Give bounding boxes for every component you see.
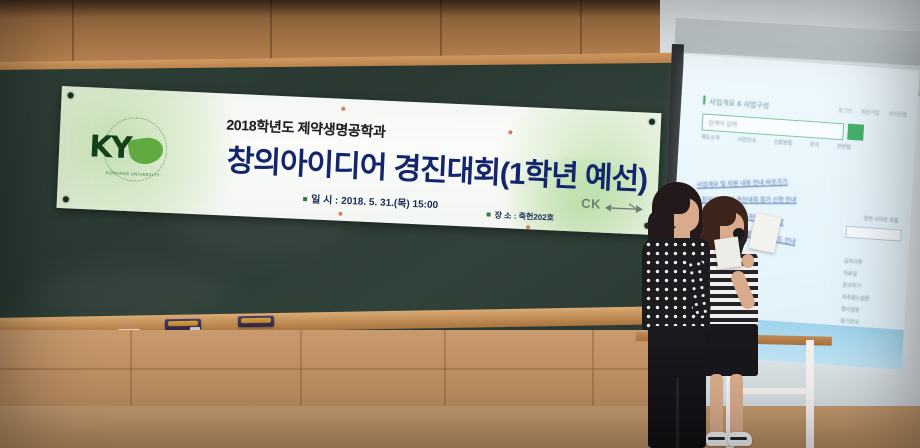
search-placeholder-text: 검색어 입력 <box>708 118 738 129</box>
bullet-icon <box>487 212 491 216</box>
tab-item: 관련법 <box>837 143 851 151</box>
list-item: 행사일정 <box>841 306 899 317</box>
top-link: 로그인 <box>838 107 852 115</box>
shoe <box>728 432 752 446</box>
list-item: 자료실 <box>843 270 901 281</box>
bullet-icon <box>303 197 307 201</box>
presenter-left <box>638 182 722 448</box>
chalkboard-eraser <box>238 316 274 328</box>
search-icon <box>847 124 864 141</box>
projected-side-heading: 관련 사이트 모음 <box>863 215 898 224</box>
top-link: 사이트맵 <box>888 110 907 118</box>
heading-bar-icon <box>703 95 706 104</box>
program-logo-text: CK <box>581 196 601 212</box>
table-leg <box>806 340 814 448</box>
banner-place-text: 장 소 : 죽헌202호 <box>494 211 554 223</box>
tab-item: 제도소개 <box>701 133 720 141</box>
projected-heading: 사업개요 & 사업구성 <box>703 95 770 111</box>
tab-item: 사업안내 <box>737 136 756 144</box>
leg <box>730 374 743 436</box>
trouser-split <box>676 378 679 448</box>
projected-side-box <box>845 226 902 242</box>
list-item: 문의하기 <box>842 282 900 293</box>
logo-text: KY <box>88 129 131 166</box>
projected-top-links: 로그인 회원가입 사이트맵 <box>838 107 907 119</box>
wall-shadow <box>0 0 700 18</box>
top-link: 회원가입 <box>861 108 880 116</box>
floor <box>0 406 920 448</box>
projected-heading-text: 사업개요 & 사업구성 <box>709 99 769 110</box>
university-logo: KY KONYANG UNIVERSITY <box>88 113 169 184</box>
list-item: 자주묻는질문 <box>842 294 900 305</box>
banner-place: 장 소 : 죽헌202호 <box>486 209 554 223</box>
hand <box>742 254 754 268</box>
banner-date-text: 일 시 : 2018. 5. 31.(목) 15:00 <box>311 194 438 211</box>
tab-item: 문의 <box>810 141 820 149</box>
banner-date: 일 시 : 2018. 5. 31.(목) 15:00 <box>303 190 439 211</box>
lecture-hall-photo: KY KONYANG UNIVERSITY 2018학년도 제약생명공학과 창의… <box>0 0 920 448</box>
list-item: 공지사항 <box>844 258 902 269</box>
tab-item: 신청방법 <box>773 138 792 146</box>
